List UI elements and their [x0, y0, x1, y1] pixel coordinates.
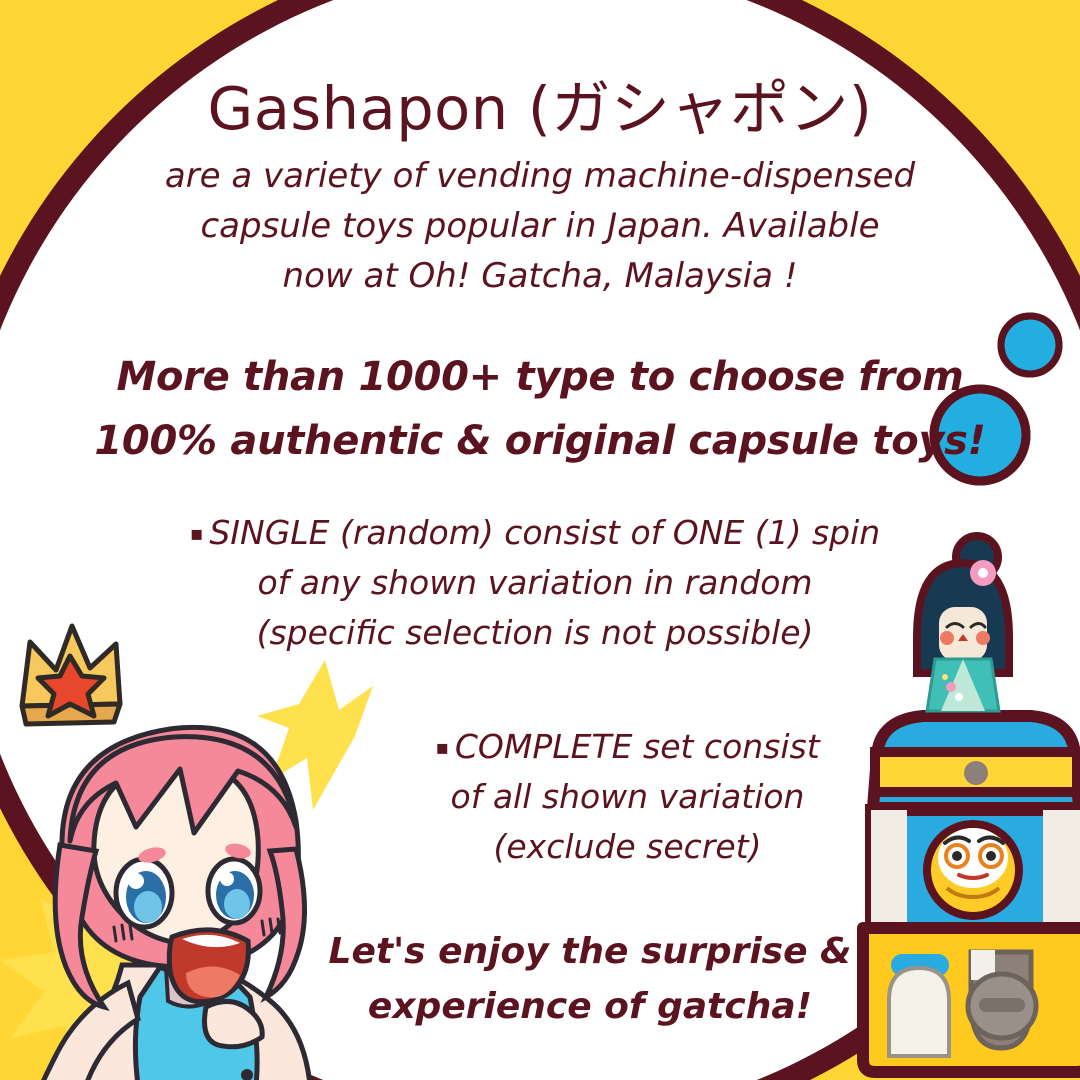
- bullet-marker-icon: ▪: [435, 735, 449, 759]
- gashapon-promo-poster: Gashapon (ガシャポン) are a variety of vendin…: [0, 0, 1080, 1080]
- intro-line: capsule toys popular in Japan. Available: [90, 202, 990, 252]
- closing-call-to-action: Let's enjoy the surprise & experience of…: [240, 925, 940, 1034]
- single-option-line: ▪SINGLE (random) consist of ONE (1) spin: [180, 508, 890, 558]
- page-title: Gashapon (ガシャポン): [0, 78, 1080, 140]
- closing-line: experience of gatcha!: [240, 980, 940, 1035]
- promo-line: More than 1000+ type to choose from: [60, 345, 1020, 409]
- intro-line: now at Oh! Gatcha, Malaysia !: [90, 252, 990, 302]
- intro-paragraph: are a variety of vending machine-dispens…: [90, 152, 990, 302]
- single-option-block: ▪SINGLE (random) consist of ONE (1) spin…: [180, 508, 890, 657]
- single-option-line: (specific selection is not possible): [180, 608, 890, 658]
- complete-option-block: ▪COMPLETE set consist of all shown varia…: [330, 722, 925, 871]
- bullet-marker-icon: ▪: [190, 521, 204, 545]
- complete-option-line: ▪COMPLETE set consist: [330, 722, 925, 772]
- text-content: Gashapon (ガシャポン) are a variety of vendin…: [0, 0, 1080, 1080]
- complete-option-line: (exclude secret): [330, 822, 925, 872]
- complete-option-text: COMPLETE set consist: [455, 727, 820, 766]
- single-option-text: SINGLE (random) consist of ONE (1) spin: [209, 513, 880, 552]
- intro-line: are a variety of vending machine-dispens…: [90, 152, 990, 202]
- promo-highlight: More than 1000+ type to choose from 100%…: [60, 345, 1020, 473]
- closing-line: Let's enjoy the surprise &: [240, 925, 940, 980]
- promo-line: 100% authentic & original capsule toys!: [60, 409, 1020, 473]
- complete-option-line: of all shown variation: [330, 772, 925, 822]
- single-option-line: of any shown variation in random: [180, 558, 890, 608]
